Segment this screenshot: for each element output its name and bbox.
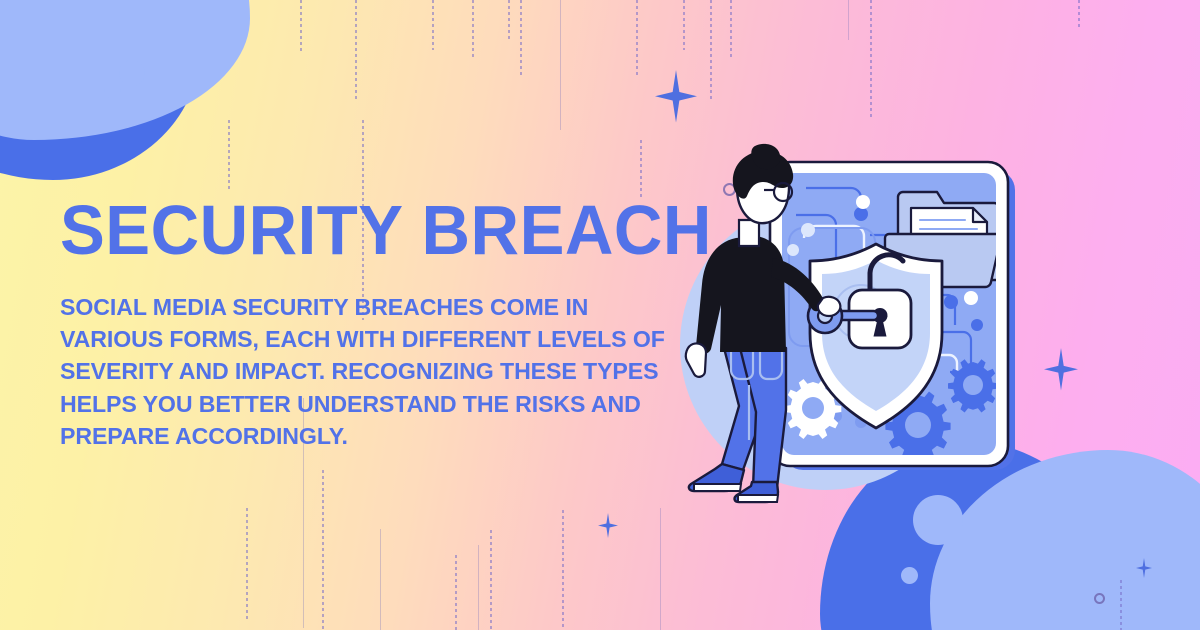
hand-right	[818, 297, 841, 316]
banner-canvas: ✛✛ SECURITY BREACH SOCIAL MEDIA SECURITY…	[0, 0, 1200, 630]
decor-circle-top-left-small	[104, 82, 121, 99]
body-paragraph: SOCIAL MEDIA SECURITY BREACHES COME IN V…	[60, 291, 666, 453]
sweater	[696, 236, 786, 354]
text-column: SECURITY BREACH SOCIAL MEDIA SECURITY BR…	[60, 196, 680, 453]
decor-circle-top-left-large	[119, 60, 145, 86]
decor-circle-bottom-right-small	[901, 567, 918, 584]
page-title: SECURITY BREACH	[60, 196, 655, 265]
shoe-back-sole	[694, 484, 741, 491]
hand-left	[686, 343, 706, 376]
neck	[739, 220, 759, 246]
shoe-front-sole	[738, 495, 778, 502]
security-illustration	[665, 140, 1065, 520]
